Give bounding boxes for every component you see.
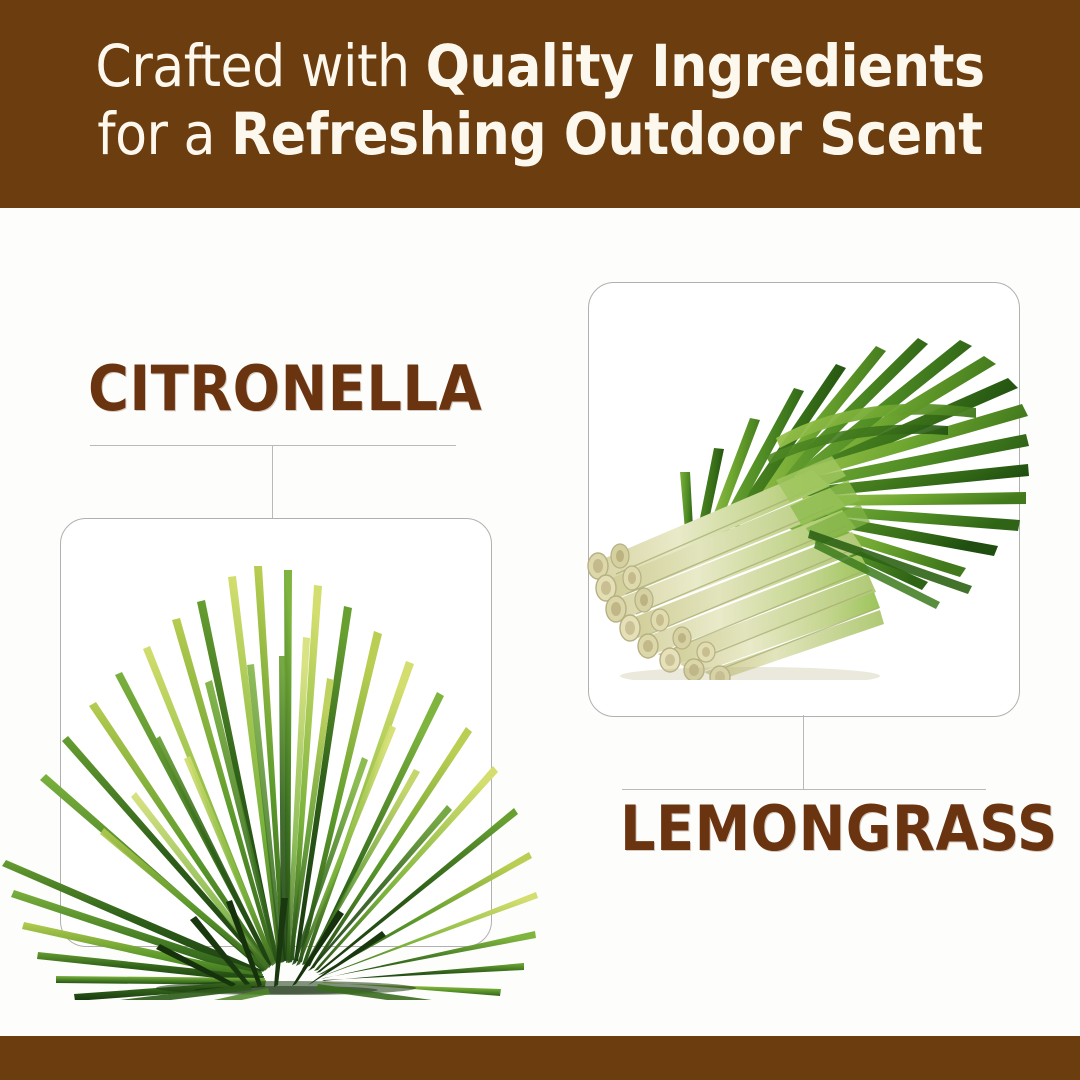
headline-block: Crafted with Quality Ingredients for a R…: [0, 0, 1080, 208]
infographic-root: Crafted with Quality Ingredients for a R…: [0, 0, 1080, 1080]
citronella-horizontal-rule: [90, 445, 456, 446]
footer-banner-band: [0, 1036, 1080, 1080]
lemongrass-vertical-connector: [803, 715, 804, 789]
headline-line-1: Crafted with Quality Ingredients: [95, 33, 984, 101]
headline-line-2-bold: Refreshing Outdoor Scent: [231, 100, 983, 168]
headline-line-1-bold: Quality Ingredients: [426, 32, 985, 100]
ingredient-label-citronella: CITRONELLA: [88, 352, 482, 425]
headline-line-2: for a Refreshing Outdoor Scent: [97, 101, 982, 169]
citronella-vertical-connector: [272, 445, 273, 519]
citronella-photo-card: [60, 518, 492, 947]
ingredient-label-lemongrass: LEMONGRASS: [620, 792, 1058, 865]
lemongrass-photo-card: [588, 282, 1020, 717]
headline-line-1-light: Crafted with: [95, 32, 425, 100]
lemongrass-horizontal-rule: [622, 789, 986, 790]
headline-line-2-light: for a: [97, 100, 231, 168]
